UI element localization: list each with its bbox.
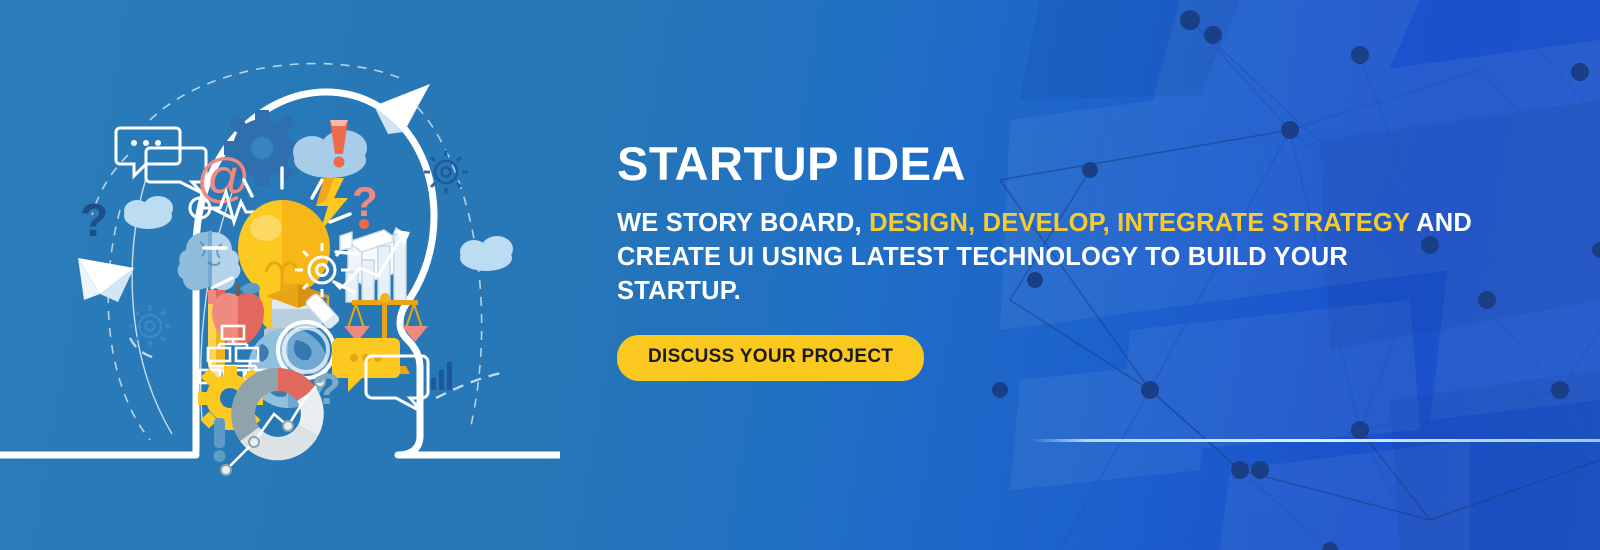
svg-text:?: ?	[352, 178, 378, 225]
paper-plane-icon	[374, 84, 430, 134]
donut-chart-icon	[231, 368, 324, 460]
exclamation-mark-icon	[214, 418, 226, 462]
svg-text:?: ?	[314, 365, 341, 414]
hero-copy-block: STARTUP IDEA WE STORY BOARD, DESIGN, DEV…	[617, 140, 1497, 381]
brain-icon	[178, 230, 241, 290]
subtitle-part-1: WE STORY BOARD,	[617, 209, 869, 237]
cloud-alert-icon	[293, 120, 367, 178]
startup-idea-hero-banner: ?	[0, 0, 1600, 550]
question-mark-red-icon: ?	[352, 178, 378, 229]
page-title: STARTUP IDEA	[617, 140, 1497, 189]
accent-divider-line	[1030, 439, 1600, 442]
svg-text:?: ?	[80, 194, 108, 246]
head-illustration: ?	[0, 0, 560, 550]
speech-bubbles-icon	[116, 128, 206, 193]
paper-plane-icon	[78, 258, 134, 302]
question-mark-icon: ?	[314, 365, 341, 414]
question-mark-icon: ?	[80, 194, 108, 246]
hero-subtitle: WE STORY BOARD, DESIGN, DEVELOP, INTEGRA…	[617, 207, 1479, 309]
small-bar-chart-icon	[431, 362, 452, 390]
discuss-your-project-button[interactable]: DISCUSS YOUR PROJECT	[617, 335, 924, 381]
subtitle-highlight: DESIGN, DEVELOP, INTEGRATE STRATEGY	[869, 209, 1410, 237]
cloud-icon	[124, 196, 173, 229]
cloud-icon	[460, 236, 513, 271]
